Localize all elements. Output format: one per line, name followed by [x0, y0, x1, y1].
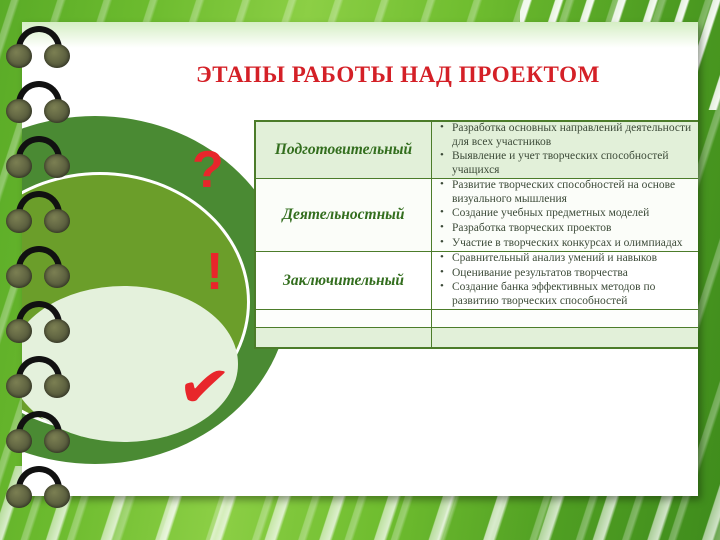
list-item: Участие в творческих конкурсах и олимпиа… [444, 237, 698, 251]
stage-items-list: Сравнительный анализ умений и навыков Оц… [432, 252, 698, 308]
stage-items-cell: Развитие творческих способностей на осно… [432, 179, 699, 252]
stage-name-cell: Деятельностный [255, 179, 432, 252]
empty-cell [432, 310, 699, 328]
stage-items-list: Развитие творческих способностей на осно… [432, 179, 698, 250]
page-sheet: ЭТАПЫ РАБОТЫ НАД ПРОЕКТОМ ? ! ✔ Подготов… [22, 22, 698, 496]
question-mark-icon: ? [192, 144, 224, 196]
stage-name-cell: Заключительный [255, 252, 432, 310]
list-item: Создание банка эффективных методов по ра… [444, 281, 698, 308]
page-title: ЭТАПЫ РАБОТЫ НАД ПРОЕКТОМ [118, 62, 678, 88]
stage-name-cell: Подготовительный [255, 121, 432, 179]
list-item: Выявление и учет творческих способностей… [444, 150, 698, 177]
stage-items-cell: Сравнительный анализ умений и навыков Оц… [432, 252, 699, 310]
exclamation-mark-icon: ! [206, 246, 223, 298]
list-item: Сравнительный анализ умений и навыков [444, 252, 698, 266]
list-item: Развитие творческих способностей на осно… [444, 179, 698, 206]
stage-items-list: Разработка основных направлений деятельн… [432, 122, 698, 177]
slide: ЭТАПЫ РАБОТЫ НАД ПРОЕКТОМ ? ! ✔ Подготов… [0, 0, 720, 540]
list-item: Оценивание результатов творчества [444, 267, 698, 281]
table-row: Заключительный Сравнительный анализ умен… [255, 252, 698, 310]
list-item: Разработка творческих проектов [444, 222, 698, 236]
empty-cell [432, 328, 699, 349]
table-row-empty [255, 310, 698, 328]
stage-items-cell: Разработка основных направлений деятельн… [432, 121, 699, 179]
checkmark-icon: ✔ [174, 353, 233, 421]
list-item: Создание учебных предметных моделей [444, 207, 698, 221]
table-row: Подготовительный Разработка основных нап… [255, 121, 698, 179]
table-row-empty [255, 328, 698, 349]
stages-table: Подготовительный Разработка основных нап… [254, 120, 698, 349]
list-item: Разработка основных направлений деятельн… [444, 122, 698, 149]
table-row: Деятельностный Развитие творческих спосо… [255, 179, 698, 252]
empty-cell [255, 328, 432, 349]
empty-cell [255, 310, 432, 328]
stages-table-body: Подготовительный Разработка основных нап… [255, 121, 698, 348]
